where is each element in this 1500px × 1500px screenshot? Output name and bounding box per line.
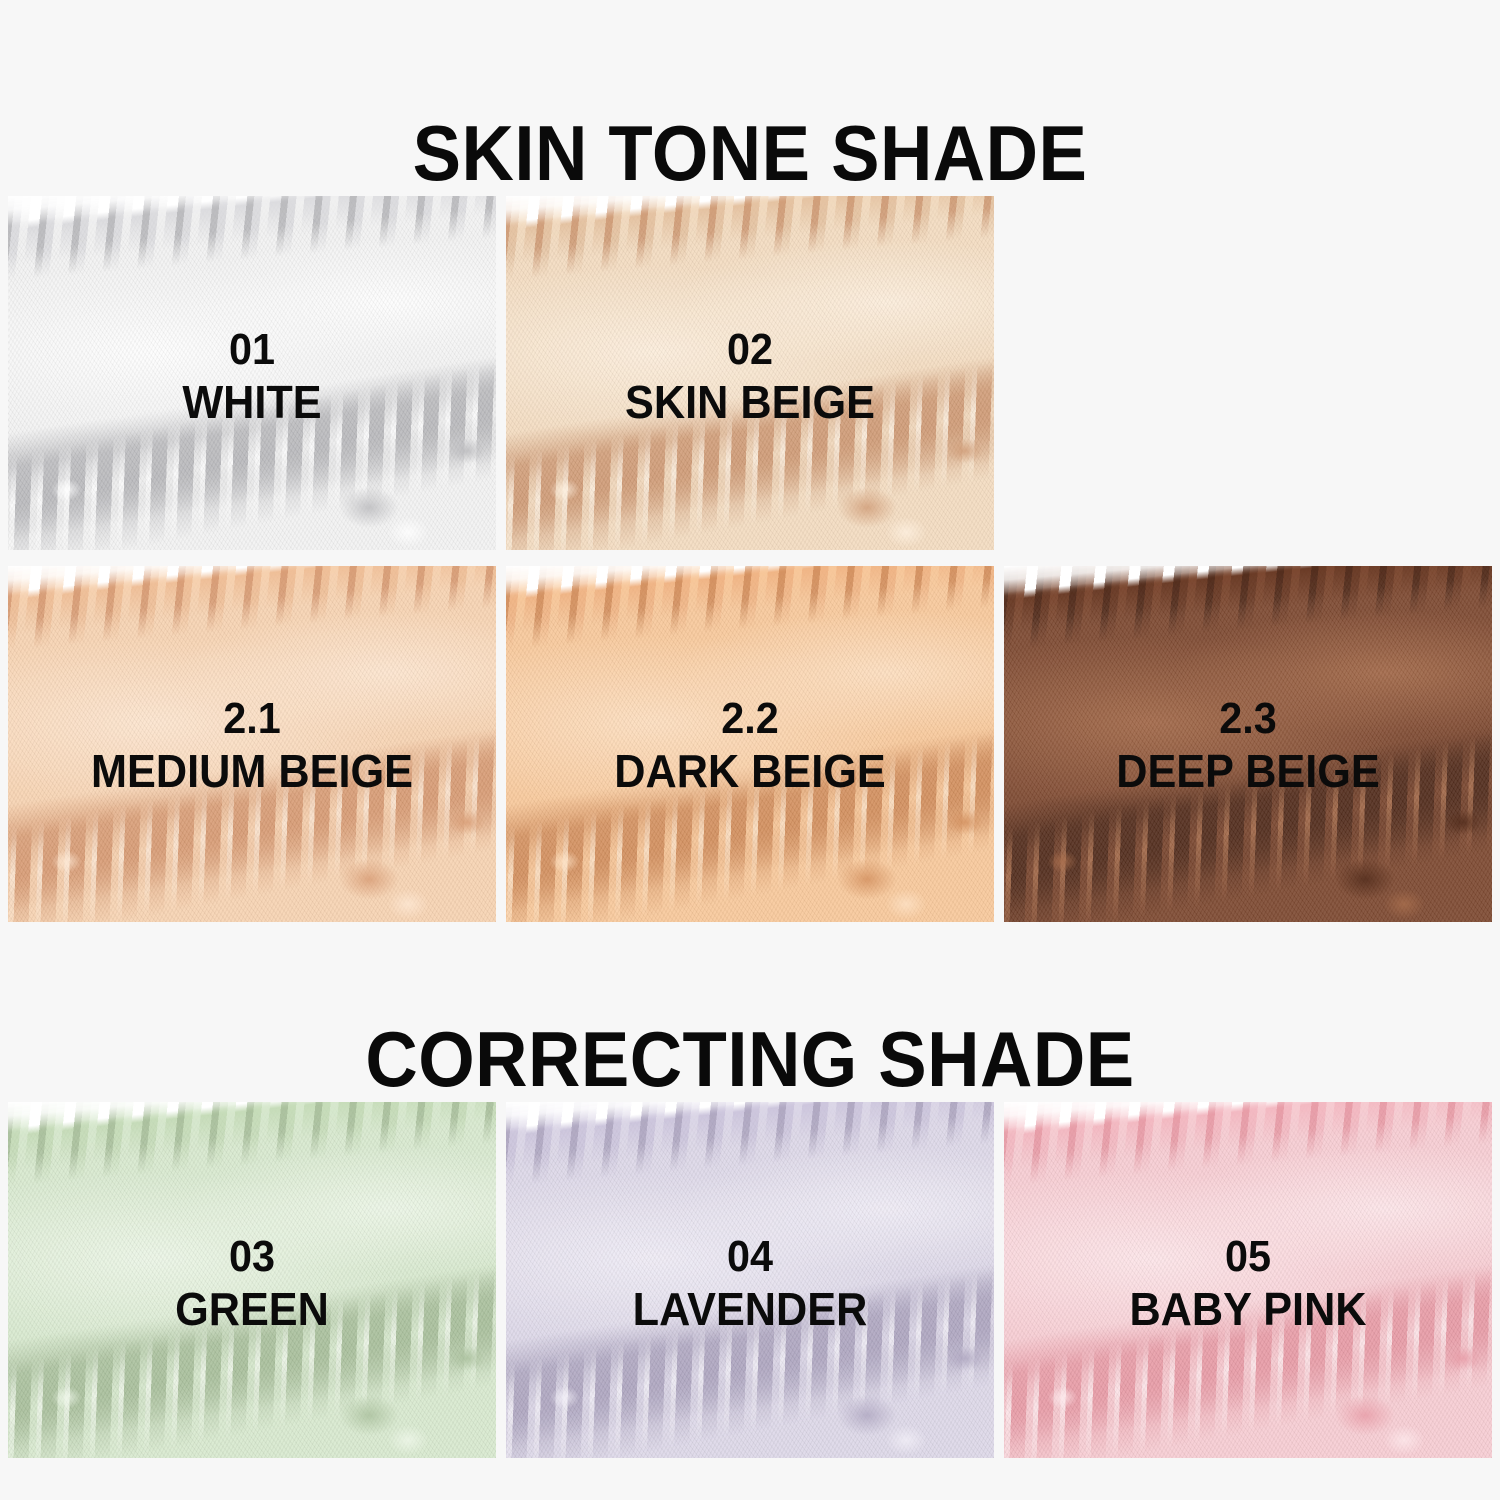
swatch-label: 2.1 MEDIUM BEIGE — [8, 697, 496, 795]
swatch-label: 02 SKIN BEIGE — [506, 328, 994, 426]
swatch-code: 05 — [1019, 1235, 1478, 1280]
swatch-row-skin-tone-1: 01 WHITE 02 SKIN BEIGE — [8, 196, 1492, 550]
swatch-tile-21-medium-beige[interactable]: 2.1 MEDIUM BEIGE — [8, 566, 496, 922]
swatch-tile-04-lavender[interactable]: 04 LAVENDER — [506, 1102, 994, 1458]
swatch-name: DEEP BEIGE — [1019, 748, 1478, 795]
swatch-tile-01-white[interactable]: 01 WHITE — [8, 196, 496, 550]
swatch-label: 03 GREEN — [8, 1235, 496, 1333]
swatch-name: DARK BEIGE — [521, 748, 980, 795]
swatch-label: 01 WHITE — [8, 328, 496, 426]
swatch-name: GREEN — [23, 1286, 482, 1333]
swatch-code: 2.1 — [23, 697, 482, 742]
swatch-label: 04 LAVENDER — [506, 1235, 994, 1333]
section-heading-correcting: CORRECTING SHADE — [53, 1020, 1448, 1098]
swatch-name: WHITE — [23, 379, 482, 426]
swatch-code: 2.3 — [1019, 697, 1478, 742]
section-heading-skin-tone: SKIN TONE SHADE — [53, 114, 1448, 192]
swatch-code: 02 — [521, 328, 980, 373]
swatch-name: LAVENDER — [521, 1286, 980, 1333]
swatch-tile-05-baby-pink[interactable]: 05 BABY PINK — [1004, 1102, 1492, 1458]
shade-chart-page: SKIN TONE SHADE 01 WHITE 02 SKIN BEIGE — [0, 0, 1500, 1500]
swatch-label: 2.2 DARK BEIGE — [506, 697, 994, 795]
swatch-row-correcting: 03 GREEN 04 LAVENDER 05 BA — [8, 1102, 1492, 1458]
swatch-code: 01 — [23, 328, 482, 373]
swatch-tile-22-dark-beige[interactable]: 2.2 DARK BEIGE — [506, 566, 994, 922]
swatch-code: 2.2 — [521, 697, 980, 742]
swatch-name: MEDIUM BEIGE — [23, 748, 482, 795]
swatch-tile-03-green[interactable]: 03 GREEN — [8, 1102, 496, 1458]
swatch-tile-23-deep-beige[interactable]: 2.3 DEEP BEIGE — [1004, 566, 1492, 922]
swatch-code: 03 — [23, 1235, 482, 1280]
swatch-tile-02-skin-beige[interactable]: 02 SKIN BEIGE — [506, 196, 994, 550]
swatch-label: 05 BABY PINK — [1004, 1235, 1492, 1333]
swatch-row-skin-tone-2: 2.1 MEDIUM BEIGE 2.2 DARK BEIGE 2. — [8, 566, 1492, 922]
swatch-name: BABY PINK — [1019, 1286, 1478, 1333]
swatch-label: 2.3 DEEP BEIGE — [1004, 697, 1492, 795]
swatch-name: SKIN BEIGE — [521, 379, 980, 426]
swatch-code: 04 — [521, 1235, 980, 1280]
